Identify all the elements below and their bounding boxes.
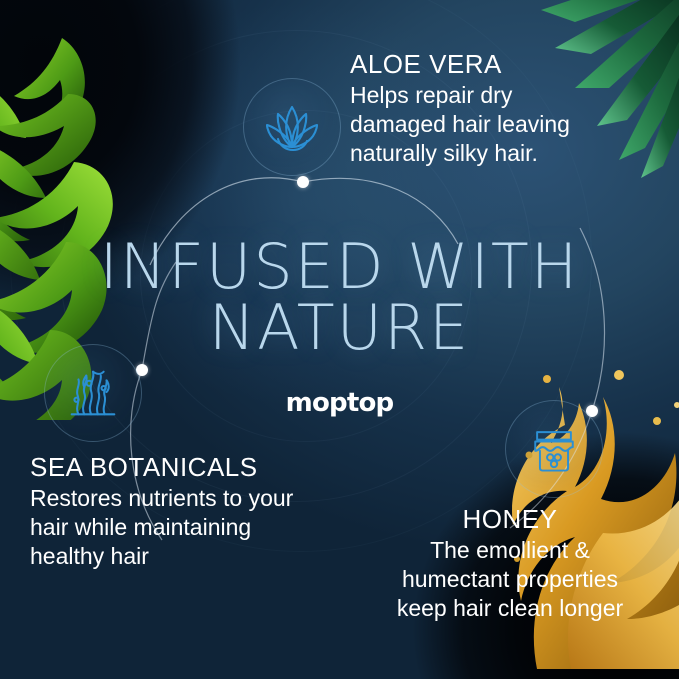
feature-title-sea-botanicals: SEA BOTANICALS (30, 453, 350, 482)
feature-desc-honey-line-1: The emollient & (370, 536, 650, 565)
feature-text-honey: HONEY The emollient & humectant properti… (370, 505, 650, 623)
feature-desc-aloe-vera-line-1: Helps repair dry (350, 81, 650, 110)
feature-desc-sea-botanicals-line-3: healthy hair (30, 542, 350, 571)
feature-title-aloe-vera: ALOE VERA (350, 50, 650, 79)
feature-text-aloe-vera: ALOE VERA Helps repair dry damaged hair … (350, 50, 650, 168)
feature-text-sea-botanicals: SEA BOTANICALS Restores nutrients to you… (30, 453, 350, 571)
infographic-canvas: INFUSED WITH NATURE moptop ALOE VERA Hel… (0, 0, 679, 679)
feature-icon-badge-aloe-vera (243, 78, 341, 176)
feature-desc-sea-botanicals-line-2: hair while maintaining (30, 513, 350, 542)
feature-desc-aloe-vera-line-2: damaged hair leaving (350, 110, 650, 139)
feature-desc-honey-line-2: humectant properties (370, 565, 650, 594)
feature-icon-badge-honey (505, 400, 603, 498)
feature-icon-badge-sea-botanicals (44, 344, 142, 442)
honey-jar-icon (524, 419, 584, 479)
feature-desc-honey-line-3: keep hair clean longer (370, 594, 650, 623)
brand-logo-text: moptop (286, 388, 394, 418)
seaweed-icon (62, 362, 124, 424)
connector-dot-aloe (297, 176, 309, 188)
aloe-plant-icon (260, 95, 324, 159)
feature-desc-aloe-vera-line-3: naturally silky hair. (350, 139, 650, 168)
feature-title-honey: HONEY (370, 505, 650, 534)
feature-desc-sea-botanicals-line-1: Restores nutrients to your (30, 484, 350, 513)
